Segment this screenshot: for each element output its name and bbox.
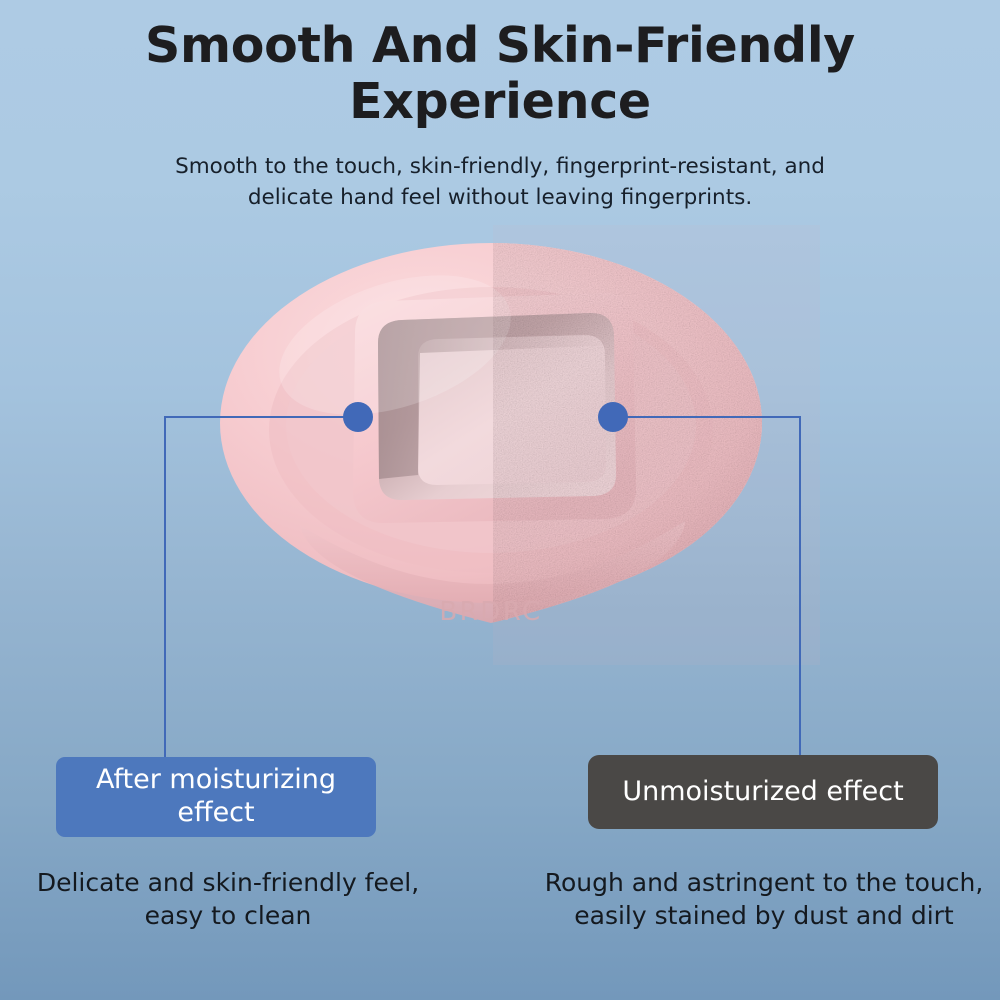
page-subtitle: Smooth to the touch, skin-friendly, fing… [130,152,870,214]
product-illustration: BRDRC [180,225,820,665]
brand-mark: BRDRC [439,597,542,627]
badge-unmoisturized: Unmoisturized effect [588,755,938,829]
caption-unmoisturized: Rough and astringent to the touch, easil… [534,866,994,933]
product-feature-banner: Smooth And Skin-Friendly Experience Smoo… [0,0,1000,1000]
badge-after-moisturizing: After moisturizing effect [56,757,376,837]
page-title: Smooth And Skin-Friendly Experience [140,18,860,130]
caption-after-moisturizing: Delicate and skin-friendly feel, easy to… [8,866,448,933]
